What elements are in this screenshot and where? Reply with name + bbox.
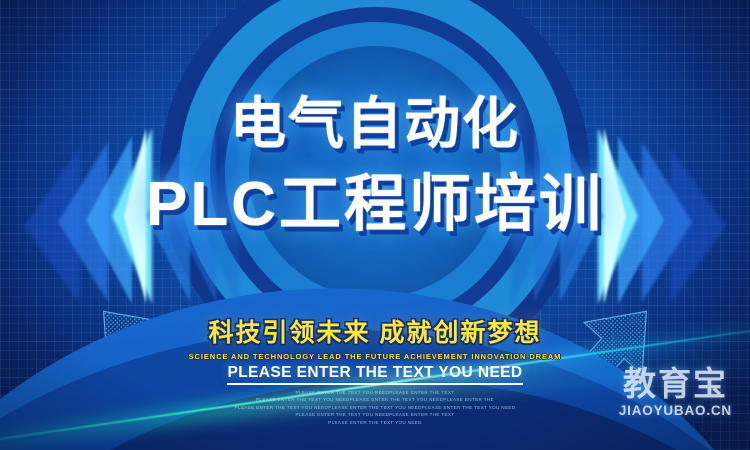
watermark-domain: JIAOYUBAO.CN xyxy=(619,403,732,418)
subtitle-chinese: 科技引领未来 成就创新梦想 xyxy=(0,313,750,349)
title-line-2: PLC工程师培训 xyxy=(0,174,750,236)
watermark-logo: 教育宝 JIAOYUBAO.CN xyxy=(619,367,732,418)
title-line-1: 电气自动化 xyxy=(0,96,750,152)
title-block: 电气自动化 PLC工程师培训 xyxy=(0,96,750,236)
watermark-brand-cn: 教育宝 xyxy=(619,367,732,400)
subtitle-english: SCIENCE AND TECHNOLOGY LEAD THE FUTURE A… xyxy=(0,352,750,361)
subtitle-block: 科技引领未来 成就创新梦想 SCIENCE AND TECHNOLOGY LEA… xyxy=(0,313,750,361)
body-heading: PLEASE ENTER THE TEXT YOU NEED xyxy=(227,364,522,385)
body-line: PLEASE ENTER THE TEXT YOU NEED xyxy=(0,419,750,426)
poster-canvas: 电气自动化 PLC工程师培训 科技引领未来 成就创新梦想 SCIENCE AND… xyxy=(0,0,750,450)
